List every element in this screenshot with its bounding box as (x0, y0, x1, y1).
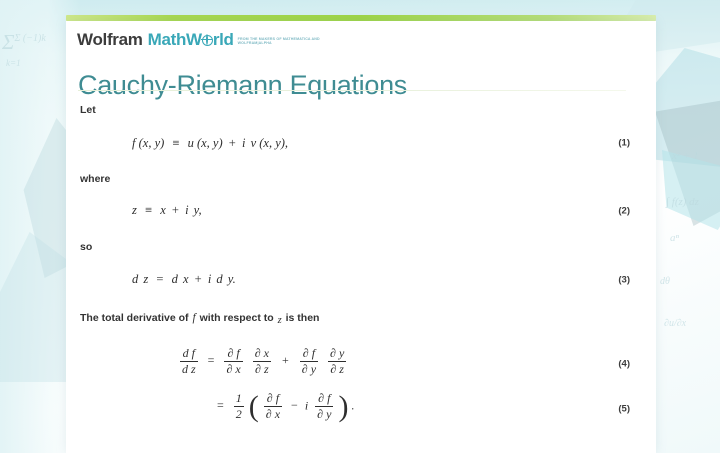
eq4-term4-numerator: ∂ y (328, 347, 346, 361)
eq3-x: x (181, 272, 189, 286)
eq3-y: y. (226, 272, 236, 286)
eq5-half-denominator: 2 (234, 406, 244, 421)
background-formula-right-2: ∫ f(z) dz (666, 196, 699, 208)
globe-icon (202, 35, 213, 46)
eq4-term1-fraction: ∂ f ∂ x (224, 347, 242, 377)
eq1-f-args: (x, y) (139, 136, 165, 150)
eq2-z: z (132, 203, 137, 217)
background-formula-exp: Σ (−1) (14, 33, 41, 44)
eq5-term1-denominator: ∂ x (264, 406, 282, 421)
eq5-term2-numerator: ∂ f (315, 392, 333, 406)
eq1-u: u (188, 136, 194, 150)
equation-row-4: d f d z = ∂ f ∂ x ∂ x ∂ z + ∂ f (66, 343, 656, 385)
eq3-relation: = (151, 272, 168, 286)
eq5-term1-fraction: ∂ f ∂ x (264, 392, 282, 422)
page-title: Cauchy-Riemann Equations (78, 69, 407, 101)
eq4-term3-numerator: ∂ f (300, 347, 318, 361)
eq2-plus: + (169, 203, 182, 217)
screenshot-root: ΣΣ (−1)k k=1 x² + 1 ∫ f(z) dz aⁿ dθ ∂u/∂… (0, 0, 720, 453)
eq4-plus: + (276, 353, 295, 367)
lead-total-derivative-post: is then (283, 312, 320, 324)
eq4-term2-numerator: ∂ x (253, 347, 271, 361)
eq5-open-paren: ( (249, 396, 259, 418)
background-formula-right-1: x² + 1 (672, 150, 699, 162)
eq5-relation: = (212, 398, 229, 412)
lead-total-derivative-mid: with respect to (197, 312, 277, 324)
eq5-term2-fraction: ∂ f ∂ y (315, 392, 333, 422)
eq2-x: x (160, 203, 166, 217)
eq4-term2-denominator: ∂ z (253, 361, 271, 376)
eq1-u-args: (x, y) (197, 136, 223, 150)
eq4-term1-denominator: ∂ x (224, 361, 242, 376)
title-divider (78, 90, 626, 91)
logo-rld-text: rld (213, 30, 234, 49)
logo-mathworld-text: MathWrld (148, 31, 234, 48)
eq1-v: v (249, 136, 257, 150)
eq4-relation: = (203, 353, 220, 367)
background-formula-index: k=1 (6, 58, 21, 68)
lead-so: so (80, 240, 656, 255)
eq3-d3: d (214, 272, 222, 286)
eq5-half-fraction: 1 2 (234, 392, 244, 422)
eq5-period: . (351, 398, 354, 412)
background-formula-right-3: aⁿ (670, 232, 679, 244)
lead-let: Let (80, 103, 656, 118)
eq1-v-args: (x, y), (259, 136, 288, 150)
equation-row-3: d z = d x + i d y. (3) (66, 272, 656, 287)
logo-mathw-text: MathW (148, 30, 202, 49)
equation-3: d z = d x + i d y. (132, 272, 656, 287)
eq4-term1-numerator: ∂ f (224, 347, 242, 361)
eq3-d1: d (132, 272, 138, 286)
equation-number-4: (4) (618, 358, 630, 369)
background-formula-right-5: ∂u/∂x (664, 318, 686, 329)
background-formula-right-4: dθ (660, 276, 670, 287)
eq4-term3-denominator: ∂ y (300, 361, 318, 376)
equation-number-5: (5) (618, 403, 630, 414)
eq5-term1-numerator: ∂ f (264, 392, 282, 406)
equation-number-2: (2) (618, 205, 630, 216)
eq1-f: f (132, 136, 135, 150)
eq2-relation: ≡ (140, 203, 157, 217)
equation-4: d f d z = ∂ f ∂ x ∂ x ∂ z + ∂ f (178, 343, 656, 377)
eq1-i: i (242, 136, 245, 150)
logo-tagline: FROM THE MAKERS OF MATHEMATICA AND WOLFR… (238, 37, 340, 46)
logo-wolfram-text: Wolfram (77, 31, 143, 48)
lead-total-derivative: The total derivative of f with respect t… (80, 310, 656, 329)
eq5-half-numerator: 1 (234, 392, 244, 406)
article-body: Let f (x, y) ≡ u (x, y) + i v (x, y), (1… (66, 103, 656, 429)
equation-row-2: z ≡ x + i y, (2) (66, 203, 656, 218)
eq4-term4-denominator: ∂ z (328, 361, 346, 376)
eq4-term3-fraction: ∂ f ∂ y (300, 347, 318, 377)
article-card: Wolfram MathWrld FROM THE MAKERS OF MATH… (66, 21, 656, 453)
eq5-minus: − (287, 398, 302, 412)
eq3-plus: + (192, 272, 205, 286)
site-logo[interactable]: Wolfram MathWrld FROM THE MAKERS OF MATH… (77, 31, 340, 48)
equation-1: f (x, y) ≡ u (x, y) + i v (x, y), (132, 136, 656, 151)
eq4-term4-fraction: ∂ y ∂ z (328, 347, 346, 377)
equation-2: z ≡ x + i y, (132, 203, 656, 218)
equation-row-5: = 1 2 ( ∂ f ∂ x − i ∂ f ∂ y (66, 389, 656, 429)
eq1-plus: + (226, 136, 239, 150)
eq3-d2: d (172, 272, 178, 286)
equation-row-1: f (x, y) ≡ u (x, y) + i v (x, y), (1) (66, 136, 656, 151)
eq4-term2-fraction: ∂ x ∂ z (253, 347, 271, 377)
equation-number-1: (1) (618, 138, 630, 149)
equation-number-3: (3) (618, 274, 630, 285)
eq4-lhs-denominator: d z (180, 361, 198, 376)
lead-total-derivative-pre: The total derivative of (80, 312, 191, 324)
background-formula-sigma: ΣΣ (−1)k (2, 30, 46, 55)
eq3-i: i (208, 272, 211, 286)
eq5-term2-denominator: ∂ y (315, 406, 333, 421)
eq2-y: y, (192, 203, 202, 217)
eq5-i: i (305, 398, 308, 412)
eq1-relation: ≡ (167, 136, 184, 150)
equation-5: = 1 2 ( ∂ f ∂ x − i ∂ f ∂ y (212, 389, 656, 422)
eq3-z: z (141, 272, 148, 286)
lead-where: where (80, 172, 656, 187)
eq4-lhs-fraction: d f d z (180, 347, 198, 377)
eq4-lhs-numerator: d f (180, 347, 198, 361)
eq2-i: i (185, 203, 188, 217)
eq5-close-paren: ) (338, 396, 348, 418)
